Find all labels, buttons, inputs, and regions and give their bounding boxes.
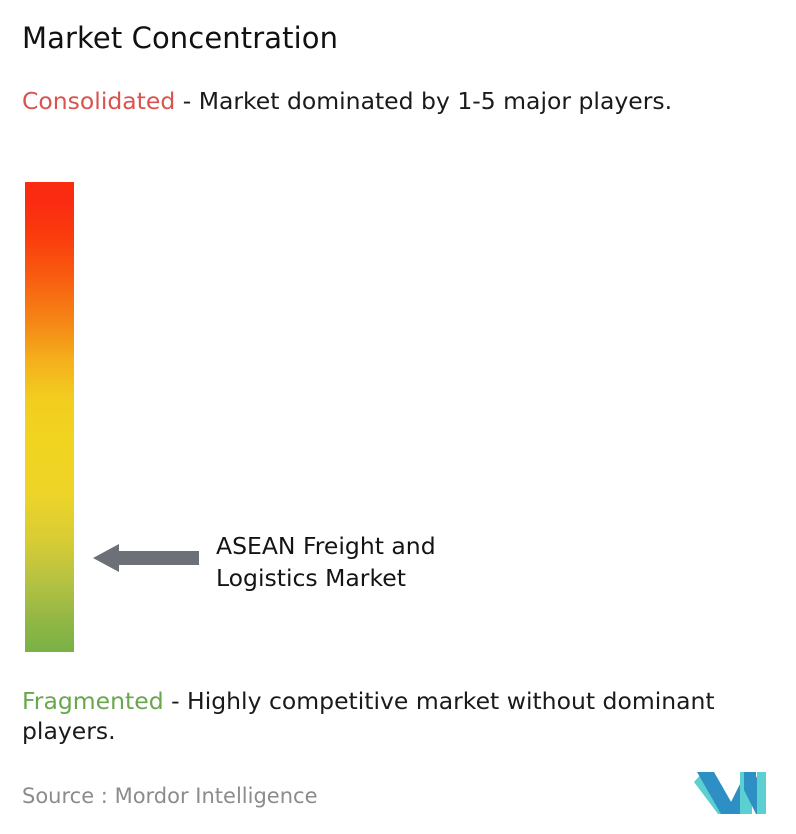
market-pointer-label-line2: Logistics Market <box>216 562 546 594</box>
source-attribution: Source : Mordor Intelligence <box>22 782 317 810</box>
legend-consolidated-description: Market dominated by 1-5 major players. <box>199 87 672 115</box>
source-label: Source : <box>22 784 108 808</box>
market-pointer-arrow-icon <box>93 541 199 575</box>
legend-consolidated-keyword: Consolidated <box>22 87 175 115</box>
market-pointer-label: ASEAN Freight and Logistics Market <box>216 530 546 594</box>
legend-fragmented-separator: - <box>164 687 187 715</box>
source-value: Mordor Intelligence <box>115 784 318 808</box>
page-title: Market Concentration <box>22 20 338 56</box>
mordor-intelligence-logo-icon <box>694 770 766 816</box>
legend-consolidated-separator: - <box>175 87 198 115</box>
concentration-gradient-bar <box>25 182 74 652</box>
legend-consolidated: Consolidated - Market dominated by 1-5 m… <box>22 86 774 116</box>
market-pointer-label-line1: ASEAN Freight and <box>216 530 546 562</box>
market-concentration-infographic: Market Concentration Consolidated - Mark… <box>0 0 796 834</box>
legend-fragmented-keyword: Fragmented <box>22 687 164 715</box>
legend-fragmented: Fragmented - Highly competitive market w… <box>22 686 790 746</box>
